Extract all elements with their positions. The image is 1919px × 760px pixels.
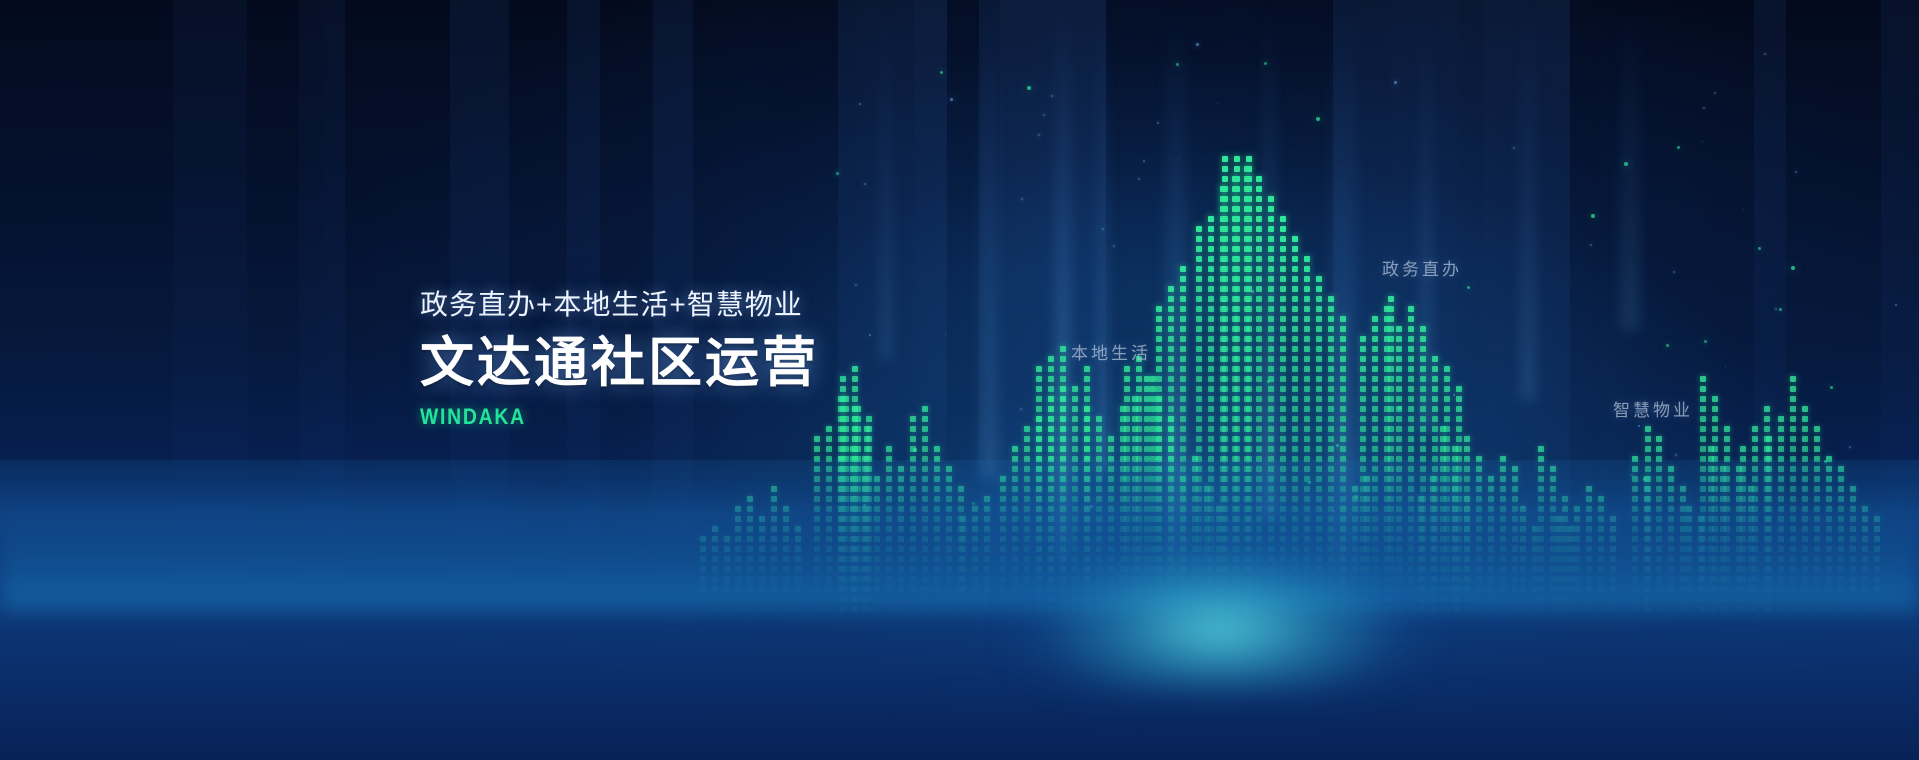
city-bar-dot: [1168, 386, 1174, 392]
city-bar-dot: [960, 576, 966, 582]
city-bar-dot: [946, 546, 952, 552]
city-bar-dot: [1430, 496, 1436, 502]
city-bar-dot: [1532, 536, 1538, 542]
city-bar-dot: [1156, 356, 1162, 362]
city-bar-dot: [864, 436, 870, 442]
city-bar-dot: [1216, 596, 1222, 602]
city-bar-dot: [1084, 416, 1090, 422]
city-bar-column: [1360, 330, 1366, 612]
city-bar-dot: [1456, 426, 1462, 432]
city-bar-dot: [735, 546, 741, 552]
city-bar-dot: [1208, 386, 1214, 392]
city-bar-dot: [1610, 566, 1616, 572]
city-bar-dot: [1388, 476, 1394, 482]
city-bar-dot: [1222, 186, 1228, 192]
city-bar-dot: [1268, 216, 1274, 222]
city-bar-dot: [960, 536, 966, 542]
city-bar-dot: [1060, 576, 1066, 582]
city-bar-dot: [1280, 466, 1286, 472]
city-bar-dot: [1668, 606, 1674, 612]
city-bar-dot: [1084, 606, 1090, 612]
city-bar-dot: [864, 496, 870, 502]
city-bar-dot: [840, 566, 846, 572]
city-bar-dot: [984, 526, 990, 532]
city-bar-dot: [1232, 346, 1238, 352]
city-bar-dot: [1752, 546, 1758, 552]
sparkle-particle: [1638, 425, 1640, 427]
city-bar-dot: [874, 566, 880, 572]
city-bar-dot: [1096, 446, 1102, 452]
city-bar-dot: [1328, 556, 1334, 562]
city-bar-dot: [1168, 466, 1174, 472]
city-bar-column: [1388, 285, 1394, 612]
city-bar-dot: [855, 416, 861, 422]
city-bar-dot: [1550, 606, 1556, 612]
city-bar-dot: [1388, 316, 1394, 322]
city-bar-column: [1532, 514, 1538, 612]
city-bar-dot: [1656, 476, 1662, 482]
city-bar-dot: [1740, 516, 1746, 522]
city-bar-dot: [1464, 506, 1470, 512]
city-bar-dot: [843, 576, 849, 582]
city-bar-dot: [1598, 566, 1604, 572]
city-bar-dot: [1156, 336, 1162, 342]
city-bar-dot: [1862, 536, 1868, 542]
city-bar-dot: [1372, 396, 1378, 402]
city-bar-dot: [1752, 586, 1758, 592]
city-bar-dot: [1724, 566, 1730, 572]
city-bar-dot: [922, 426, 928, 432]
light-beam: [1165, 0, 1187, 640]
city-bar-dot: [1340, 416, 1346, 422]
city-bar-dot: [960, 586, 966, 592]
city-bar-dot: [1444, 536, 1450, 542]
city-bar-dot: [1766, 526, 1772, 532]
city-bar-dot: [1234, 366, 1240, 372]
city-bar-dot: [1084, 466, 1090, 472]
city-bar-dot: [1150, 516, 1156, 522]
city-bar-dot: [1562, 586, 1568, 592]
city-bar-dot: [1698, 526, 1704, 532]
city-bar-dot: [1244, 346, 1250, 352]
city-bar-dot: [1512, 536, 1518, 542]
city-bar-dot: [1232, 556, 1238, 562]
sparkle-particle: [1308, 481, 1311, 484]
city-bar-dot: [1304, 276, 1310, 282]
city-bar-dot: [1196, 526, 1202, 532]
city-bar-dot: [898, 526, 904, 532]
city-bar-dot: [1432, 396, 1438, 402]
city-bar-dot: [1084, 546, 1090, 552]
city-bar-dot: [1340, 426, 1346, 432]
city-bar-dot: [1234, 356, 1240, 362]
city-bar-column: [1268, 186, 1274, 612]
city-bar-dot: [1464, 496, 1470, 502]
city-bar-dot: [1778, 436, 1784, 442]
city-bar-dot: [1360, 356, 1366, 362]
city-bar-dot: [838, 426, 844, 432]
city-bar-dot: [1826, 536, 1832, 542]
city-bar-column: [1396, 314, 1402, 612]
city-bar-dot: [1012, 566, 1018, 572]
city-bar-dot: [1222, 426, 1228, 432]
city-bar-dot: [1700, 496, 1706, 502]
city-bar-dot: [1766, 546, 1772, 552]
city-bar-dot: [1280, 236, 1286, 242]
city-bar-dot: [1432, 496, 1438, 502]
city-bar-dot: [1234, 346, 1240, 352]
city-bar-dot: [1766, 516, 1772, 522]
city-bar-dot: [1208, 576, 1214, 582]
city-bar-dot: [1048, 546, 1054, 552]
city-bar-dot: [1360, 426, 1366, 432]
city-bar-dot: [1500, 486, 1506, 492]
city-bar-dot: [1136, 596, 1142, 602]
city-bar-dot: [1120, 546, 1126, 552]
background-stripe: [1333, 0, 1390, 760]
city-bar-dot: [840, 396, 846, 402]
city-bar-dot: [1838, 536, 1844, 542]
city-bar-dot: [1024, 476, 1030, 482]
city-bar-dot: [1476, 606, 1482, 612]
city-bar-dot: [1244, 186, 1250, 192]
city-bar-dot: [1246, 416, 1252, 422]
city-bar-dot: [1408, 606, 1414, 612]
city-bar-column: [1432, 345, 1438, 612]
city-bar-dot: [862, 606, 868, 612]
city-bar-dot: [1012, 446, 1018, 452]
city-bar-dot: [1316, 316, 1322, 322]
sparkle-particle: [1758, 247, 1761, 250]
city-bar-dot: [1232, 566, 1238, 572]
city-bar-dot: [838, 496, 844, 502]
city-bar-dot: [1364, 606, 1370, 612]
city-bar-dot: [1222, 416, 1228, 422]
city-bar-dot: [1724, 496, 1730, 502]
city-bar-dot: [1234, 156, 1240, 162]
city-bar-dot: [1396, 586, 1402, 592]
city-bar-dot: [1752, 426, 1758, 432]
city-bar-dot: [1644, 566, 1650, 572]
city-bar-dot: [1292, 436, 1298, 442]
city-bar-dot: [795, 546, 801, 552]
city-bar-dot: [852, 596, 858, 602]
city-bar-dot: [759, 606, 765, 612]
city-bar-dot: [1340, 596, 1346, 602]
city-bar-dot: [1396, 376, 1402, 382]
city-bar-dot: [1598, 586, 1604, 592]
city-bar-dot: [1838, 586, 1844, 592]
city-bar-dot: [1292, 306, 1298, 312]
city-bar-column: [712, 518, 718, 612]
city-bar-dot: [1826, 486, 1832, 492]
city-bar-dot: [1156, 476, 1162, 482]
city-bar-dot: [1420, 486, 1426, 492]
background-stripe: [1254, 0, 1333, 760]
city-bar-dot: [1208, 536, 1214, 542]
city-bar-dot: [1180, 466, 1186, 472]
city-bar-dot: [1256, 176, 1262, 182]
city-bar-dot: [910, 486, 916, 492]
city-bar-dot: [1360, 576, 1366, 582]
city-bar-dot: [922, 506, 928, 512]
city-bar-dot: [1234, 276, 1240, 282]
city-bar-dot: [1096, 556, 1102, 562]
city-bar-dot: [1220, 416, 1226, 422]
city-bar-dot: [1084, 556, 1090, 562]
city-bar-dot: [1234, 606, 1240, 612]
city-bar-dot: [1036, 566, 1042, 572]
city-bar-dot: [850, 606, 856, 612]
city-bar-dot: [1232, 256, 1238, 262]
city-bar-dot: [1476, 586, 1482, 592]
city-bar-dot: [1444, 466, 1450, 472]
city-bar-dot: [1244, 206, 1250, 212]
city-bar-dot: [838, 586, 844, 592]
city-bar-dot: [864, 536, 870, 542]
city-bar-dot: [1168, 456, 1174, 462]
city-bar-dot: [1826, 476, 1832, 482]
city-bar-dot: [1456, 546, 1462, 552]
city-bar-dot: [1408, 456, 1414, 462]
city-bar-dot: [1168, 306, 1174, 312]
sparkle-particle: [940, 71, 943, 74]
city-bar-dot: [1096, 496, 1102, 502]
city-bar-dot: [1192, 506, 1198, 512]
city-bar-dot: [1246, 296, 1252, 302]
city-bar-dot: [1232, 406, 1238, 412]
city-bar-dot: [1292, 486, 1298, 492]
city-bar-dot: [1256, 446, 1262, 452]
city-bar-dot: [1256, 226, 1262, 232]
city-bar-dot: [1316, 526, 1322, 532]
city-bar-dot: [1268, 406, 1274, 412]
banner-subtitle: 政务直办+本地生活+智慧物业: [420, 288, 819, 322]
city-bar-dot: [1222, 236, 1228, 242]
city-bar-dot: [1656, 566, 1662, 572]
city-bar-dot: [1408, 436, 1414, 442]
city-bar-dot: [1180, 346, 1186, 352]
city-bar-dot: [1084, 506, 1090, 512]
city-bar-dot: [1432, 446, 1438, 452]
city-bar-dot: [1120, 486, 1126, 492]
city-bar-dot: [1108, 546, 1114, 552]
city-bar-dot: [1814, 496, 1820, 502]
city-bar-dot: [850, 506, 856, 512]
city-bar-dot: [1192, 556, 1198, 562]
city-bar-dot: [1372, 496, 1378, 502]
city-bar-dot: [1598, 496, 1604, 502]
city-bar-dot: [1686, 576, 1692, 582]
city-bar-dot: [1096, 586, 1102, 592]
city-bar-dot: [1764, 486, 1770, 492]
city-bar-dot: [1766, 586, 1772, 592]
city-bar-dot: [1156, 586, 1162, 592]
city-bar-dot: [898, 546, 904, 552]
city-bar-dot: [1396, 416, 1402, 422]
city-bar-dot: [1862, 546, 1868, 552]
city-bar-dot: [874, 486, 880, 492]
city-bar-dot: [1024, 536, 1030, 542]
city-bar-dot: [1568, 536, 1574, 542]
city-bar-dot: [1574, 556, 1580, 562]
city-bar-dot: [1256, 196, 1262, 202]
city-bar-dot: [747, 596, 753, 602]
city-bar-dot: [852, 446, 858, 452]
city-bar-dot: [958, 486, 964, 492]
city-bar-dot: [1712, 536, 1718, 542]
city-bar-dot: [886, 486, 892, 492]
city-bar-dot: [1234, 406, 1240, 412]
city-bar-dot: [850, 516, 856, 522]
city-bar-dot: [1360, 376, 1366, 382]
city-bar-dot: [1644, 506, 1650, 512]
city-bar-dot: [1488, 586, 1494, 592]
city-bar-dot: [1292, 416, 1298, 422]
city-bar-dot: [1708, 566, 1714, 572]
city-bar-dot: [1180, 456, 1186, 462]
city-bar-dot: [1156, 556, 1162, 562]
city-bar-dot: [1328, 476, 1334, 482]
city-bar-dot: [1408, 556, 1414, 562]
city-bar-dot: [850, 476, 856, 482]
city-bar-dot: [1072, 446, 1078, 452]
city-bar-dot: [1196, 326, 1202, 332]
city-bar-dot: [850, 536, 856, 542]
city-bar-dot: [910, 526, 916, 532]
city-bar-dot: [984, 606, 990, 612]
city-bar-dot: [1752, 446, 1758, 452]
city-bar-dot: [1222, 596, 1228, 602]
city-bar-dot: [1244, 256, 1250, 262]
city-bar-dot: [1452, 556, 1458, 562]
city-bar-dot: [1396, 436, 1402, 442]
city-bar-dot: [1168, 606, 1174, 612]
city-bar-dot: [1220, 216, 1226, 222]
city-bar-dot: [1712, 446, 1718, 452]
city-bar-dot: [1388, 526, 1394, 532]
city-bar-dot: [1096, 516, 1102, 522]
city-bar-dot: [1180, 486, 1186, 492]
city-bar-dot: [898, 586, 904, 592]
city-bar-dot: [1060, 566, 1066, 572]
city-bar-dot: [1220, 606, 1226, 612]
city-bar-dot: [1072, 496, 1078, 502]
city-bar-dot: [1232, 536, 1238, 542]
city-bar-dot: [1384, 546, 1390, 552]
city-bar-dot: [1632, 466, 1638, 472]
city-bar-dot: [1712, 456, 1718, 462]
city-bar-dot: [1204, 546, 1210, 552]
city-bar-dot: [1538, 596, 1544, 602]
city-bar-dot: [1712, 546, 1718, 552]
city-bar-dot: [934, 506, 940, 512]
city-bar-dot: [826, 596, 832, 602]
city-bar-dot: [886, 606, 892, 612]
city-bar-dot: [1168, 496, 1174, 502]
city-bar-dot: [1234, 496, 1240, 502]
city-bar-dot: [1244, 366, 1250, 372]
city-bar-dot: [910, 496, 916, 502]
city-bar-dot: [1316, 356, 1322, 362]
city-bar-dot: [864, 576, 870, 582]
city-bar-dot: [838, 456, 844, 462]
city-bar-dot: [1280, 256, 1286, 262]
city-bar-dot: [1144, 536, 1150, 542]
city-bar-dot: [1180, 416, 1186, 422]
background-stripe: [979, 0, 1000, 760]
city-bar-dot: [922, 566, 928, 572]
city-bar-column: [898, 455, 904, 612]
city-bar-dot: [826, 586, 832, 592]
city-bar-dot: [1012, 516, 1018, 522]
city-bar-dot: [1304, 436, 1310, 442]
city-bar-dot: [852, 466, 858, 472]
city-bar-dot: [1156, 556, 1162, 562]
city-bar-dot: [1512, 546, 1518, 552]
city-bar-dot: [1120, 476, 1126, 482]
city-bar-column: [1418, 488, 1424, 612]
city-bar-dot: [852, 516, 858, 522]
city-bar-dot: [1340, 536, 1346, 542]
city-bar-dot: [1764, 526, 1770, 532]
city-bar-dot: [1748, 576, 1754, 582]
city-bar-dot: [1220, 386, 1226, 392]
city-bar-dot: [1520, 526, 1526, 532]
city-bar-dot: [1156, 496, 1162, 502]
city-bar-dot: [1574, 526, 1580, 532]
city-bar-dot: [838, 516, 844, 522]
city-bar-dot: [1632, 496, 1638, 502]
city-bar-dot: [1645, 526, 1651, 532]
city-bar-dot: [1452, 496, 1458, 502]
city-bar-dot: [1328, 496, 1334, 502]
city-bar-dot: [1712, 426, 1718, 432]
city-bar-dot: [972, 516, 978, 522]
city-bar-dot: [1632, 556, 1638, 562]
city-bar-dot: [1764, 506, 1770, 512]
city-bar-dot: [850, 586, 856, 592]
city-bar-dot: [1072, 566, 1078, 572]
city-bar-dot: [1222, 436, 1228, 442]
city-bar-dot: [1048, 566, 1054, 572]
city-bar-dot: [874, 536, 880, 542]
city-bar-dot: [747, 566, 753, 572]
city-bar-dot: [783, 566, 789, 572]
city-bar-dot: [1430, 576, 1436, 582]
city-bar-dot: [934, 596, 940, 602]
city-bar-dot: [1196, 246, 1202, 252]
city-bar-dot: [1232, 266, 1238, 272]
city-bar-column: [1156, 300, 1162, 612]
city-bar-dot: [1372, 586, 1378, 592]
city-bar-dot: [886, 516, 892, 522]
city-bar-dot: [1340, 496, 1346, 502]
city-bar-dot: [1708, 596, 1714, 602]
city-bar-dot: [1396, 396, 1402, 402]
city-bar-dot: [1024, 546, 1030, 552]
city-bar-dot: [1222, 466, 1228, 472]
city-bar-column: [1568, 520, 1574, 612]
city-bar-dot: [1304, 286, 1310, 292]
background-stripe: [1150, 0, 1176, 760]
city-bar-dot: [1764, 586, 1770, 592]
city-bar-dot: [934, 466, 940, 472]
city-bar-dot: [1208, 276, 1214, 282]
city-bar-dot: [898, 476, 904, 482]
city-bar-dot: [1464, 596, 1470, 602]
city-bar-dot: [852, 596, 858, 602]
